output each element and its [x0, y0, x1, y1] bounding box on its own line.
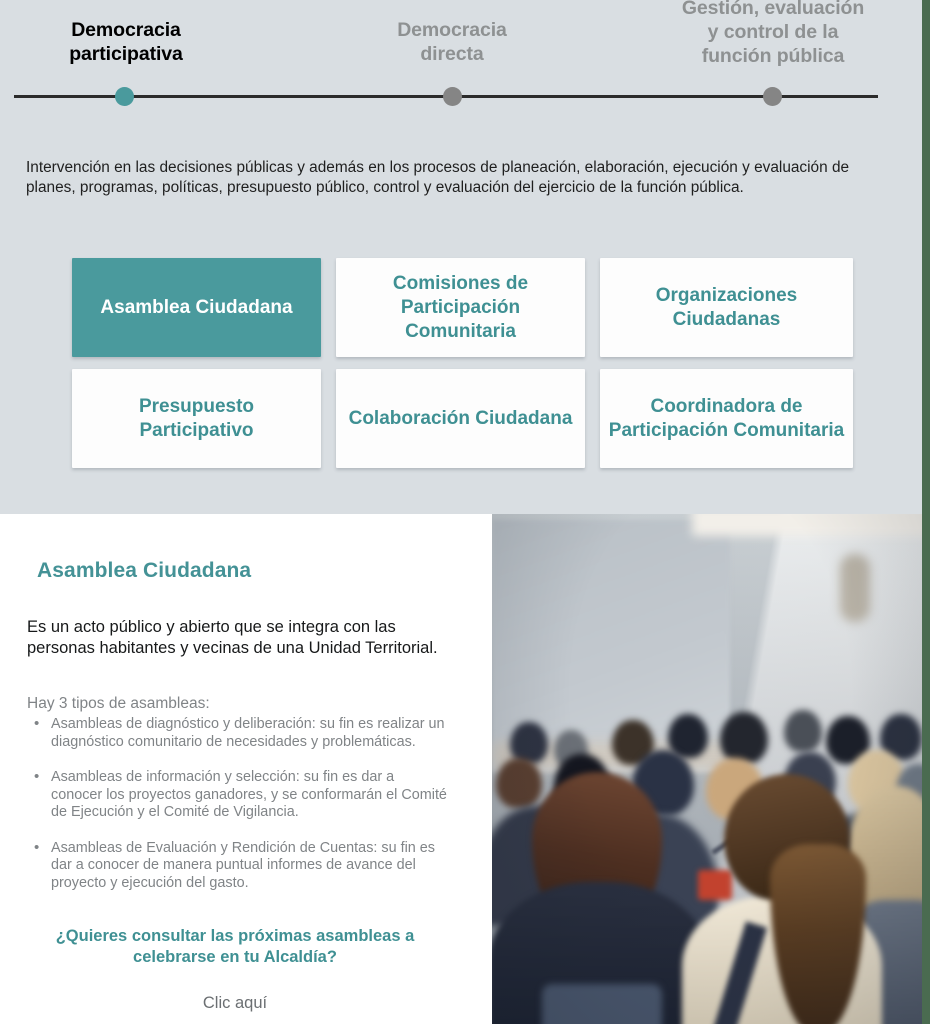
card-coordinadora-participacion-comunitaria[interactable]: Coordinadora de Participación Comunitari… — [600, 369, 853, 468]
stepper-dot-inactive-1[interactable] — [443, 87, 462, 106]
card-comisiones-participacion-comunitaria[interactable]: Comisiones de Participación Comunitaria — [336, 258, 585, 357]
step-label-gestion-evaluacion[interactable]: Gestión, evaluación y control de la func… — [640, 0, 906, 68]
page-root: Democracia participativa Democracia dire… — [0, 0, 930, 1024]
list-item: Asambleas de diagnóstico y deliberación:… — [27, 716, 447, 751]
card-asamblea-ciudadana[interactable]: Asamblea Ciudadana — [72, 258, 321, 357]
detail-column: Asamblea Ciudadana Es un acto público y … — [0, 514, 492, 1024]
stepper-dot-active[interactable] — [115, 87, 134, 106]
top-panel: Democracia participativa Democracia dire… — [0, 0, 922, 514]
assembly-photo — [492, 514, 930, 1024]
step-label-line: directa — [346, 42, 558, 66]
step-label-line: Gestión, evaluación — [640, 0, 906, 20]
list-item: Asambleas de Evaluación y Rendición de C… — [27, 840, 447, 893]
intro-paragraph: Intervención en las decisiones públicas … — [26, 158, 878, 197]
cta-clic-aqui-link[interactable]: Clic aquí — [20, 994, 450, 1013]
detail-title: Asamblea Ciudadana — [37, 559, 251, 583]
right-edge-strip — [922, 0, 930, 1024]
photo-scene — [492, 514, 930, 1024]
step-label-line: Democracia — [346, 18, 558, 42]
photo-vignette — [492, 514, 930, 1024]
card-organizaciones-ciudadanas[interactable]: Organizaciones Ciudadanas — [600, 258, 853, 357]
stepper-labels: Democracia participativa Democracia dire… — [0, 0, 922, 92]
list-item: Asambleas de información y selección: su… — [27, 769, 447, 822]
detail-bullet-list: Asambleas de diagnóstico y deliberación:… — [27, 716, 447, 910]
stepper-dot-inactive-2[interactable] — [763, 87, 782, 106]
step-label-line: participativa — [20, 42, 232, 66]
step-label-democracia-directa[interactable]: Democracia directa — [346, 18, 558, 66]
detail-list-heading: Hay 3 tipos de asambleas: — [27, 694, 210, 714]
step-label-line: y control de la — [640, 20, 906, 44]
bottom-panel: Asamblea Ciudadana Es un acto público y … — [0, 514, 930, 1024]
card-colaboracion-ciudadana[interactable]: Colaboración Ciudadana — [336, 369, 585, 468]
step-label-line: función pública — [640, 44, 906, 68]
cta-question-text: ¿Quieres consultar las próximas asamblea… — [20, 926, 450, 968]
step-label-line: Democracia — [20, 18, 232, 42]
step-label-democracia-participativa[interactable]: Democracia participativa — [20, 18, 232, 66]
detail-lead-paragraph: Es un acto público y abierto que se inte… — [27, 617, 452, 659]
category-card-grid: Asamblea Ciudadana Comisiones de Partici… — [72, 258, 852, 468]
stepper: Democracia participativa Democracia dire… — [0, 0, 922, 112]
card-presupuesto-participativo[interactable]: Presupuesto Participativo — [72, 369, 321, 468]
